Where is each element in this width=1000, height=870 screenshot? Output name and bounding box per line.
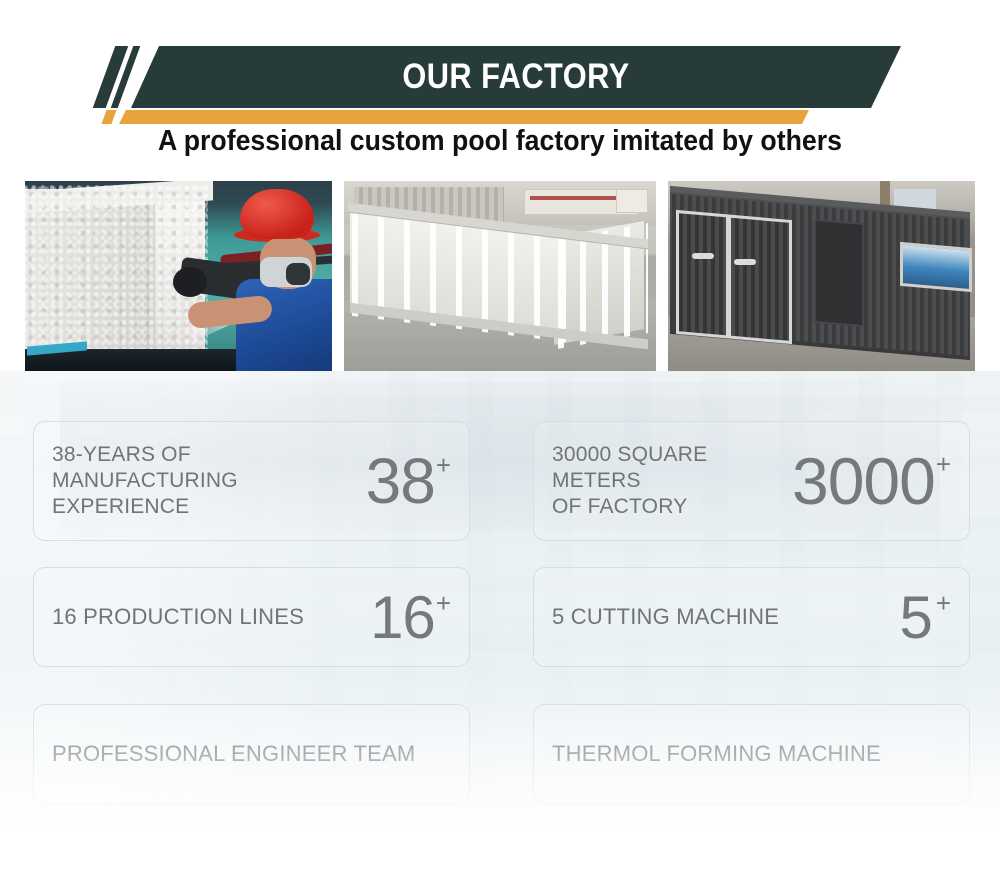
- accent-bar-tab-decoration: [101, 110, 116, 124]
- factory-photo-gallery: [0, 181, 1000, 371]
- gallery-image-spraying-foam: [25, 181, 332, 371]
- stat-number: 16: [370, 589, 435, 646]
- stat-plus-sign: +: [936, 591, 951, 616]
- page-subtitle: A professional custom pool factory imita…: [40, 125, 960, 158]
- stat-card-factory-area[interactable]: 30000 SQUARE METERS OF FACTORY 3000 +: [533, 421, 970, 541]
- stat-label: 16 PRODUCTION LINES: [52, 604, 304, 630]
- stat-plus-sign: +: [936, 452, 951, 477]
- stat-label: 38-YEARS OF MANUFACTURING EXPERIENCE: [52, 442, 238, 520]
- accent-bar-decoration: [119, 110, 809, 124]
- stat-label: 5 CUTTING MACHINE: [552, 604, 779, 630]
- stat-value: 3000 +: [792, 450, 951, 513]
- stat-value: 5 +: [899, 589, 951, 646]
- stat-value: 16 +: [370, 589, 451, 646]
- stat-plus-sign: +: [436, 591, 451, 616]
- header-banner: OUR FACTORY: [0, 20, 1000, 110]
- stat-card-cutting-machine[interactable]: 5 CUTTING MACHINE 5 +: [533, 567, 970, 667]
- stat-card-experience[interactable]: 38-YEARS OF MANUFACTURING EXPERIENCE 38 …: [33, 421, 470, 541]
- stat-plus-sign: +: [436, 453, 451, 478]
- stat-card-production-lines[interactable]: 16 PRODUCTION LINES 16 +: [33, 567, 470, 667]
- factory-landing-page: OUR FACTORY A professional custom pool f…: [0, 0, 1000, 870]
- stat-number: 3000: [792, 450, 935, 513]
- stat-number: 5: [899, 589, 931, 646]
- stats-bottom-fade: [0, 691, 1000, 831]
- gallery-image-pool-shell-frame: [344, 181, 656, 371]
- stat-label: 30000 SQUARE METERS OF FACTORY: [552, 442, 707, 520]
- stat-number: 38: [366, 451, 435, 512]
- gallery-image-container-pool: [668, 181, 975, 371]
- stat-value: 38 +: [366, 451, 451, 512]
- page-title: OUR FACTORY: [177, 46, 855, 108]
- factory-stats-section: 38-YEARS OF MANUFACTURING EXPERIENCE 38 …: [0, 371, 1000, 831]
